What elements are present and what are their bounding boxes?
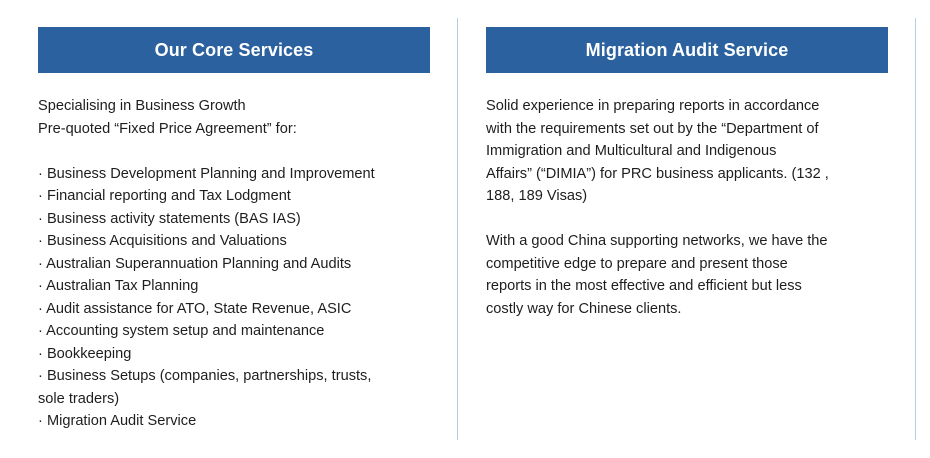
core-services-list: · Business Development Planning and Impr… [38,163,430,433]
intro-line: Specialising in Business Growth [38,95,430,118]
list-item: · Business activity statements (BAS IAS) [38,208,430,231]
left-intro-block: Specialising in Business Growth Pre-quot… [38,95,430,140]
intro-line: Pre-quoted “Fixed Price Agreement” for: [38,118,430,141]
bullet-icon: · [38,413,43,429]
list-item: · Australian Superannuation Planning and… [38,253,430,276]
bullet-icon: · [38,166,43,182]
paragraph-line: Affairs” (“DIMIA”) for PRC business appl… [486,163,888,186]
paragraph: Solid experience in preparing reports in… [486,95,888,208]
list-item: · Accounting system setup and maintenanc… [38,320,430,343]
list-item: · Australian Tax Planning [38,275,430,298]
left-column: Our Core Services Specialising in Busine… [38,27,430,433]
bullet-icon: · [38,278,43,294]
paragraph-line: with the requirements set out by the “De… [486,118,888,141]
list-item: · Business Acquisitions and Valuations [38,230,430,253]
paragraph-line: reports in the most effective and effici… [486,275,888,298]
paragraph-line: competitive edge to prepare and present … [486,253,888,276]
paragraph-line: With a good China supporting networks, w… [486,230,888,253]
paragraph-line: 188, 189 Visas) [486,185,888,208]
paragraph: With a good China supporting networks, w… [486,230,888,320]
list-item-label: Accounting system setup and maintenance [46,323,324,339]
list-item-label: Audit assistance for ATO, State Revenue,… [46,301,351,317]
list-item-label: Business activity statements (BAS IAS) [47,211,301,227]
paragraph-line: costly way for Chinese clients. [486,298,888,321]
list-item: · Business Setups (companies, partnershi… [38,365,430,388]
list-item-label: Bookkeeping [47,346,131,362]
right-edge-line [915,18,916,440]
left-column-body: Specialising in Business Growth Pre-quot… [38,95,430,433]
bullet-icon: · [38,188,43,204]
bullet-icon: · [38,256,43,272]
column-divider-line [457,18,458,440]
left-column-header: Our Core Services [38,27,430,73]
slide-canvas: Our Core Services Specialising in Busine… [0,0,930,458]
list-item: · Financial reporting and Tax Lodgment [38,185,430,208]
list-item: · Business Development Planning and Impr… [38,163,430,186]
bullet-icon: · [38,323,43,339]
right-column-body: Solid experience in preparing reports in… [486,95,888,320]
list-item: · Audit assistance for ATO, State Revenu… [38,298,430,321]
list-item-label: Australian Superannuation Planning and A… [46,256,351,272]
paragraph-line: Solid experience in preparing reports in… [486,95,888,118]
right-column: Migration Audit Service Solid experience… [486,27,888,320]
list-item: · Migration Audit Service [38,410,430,433]
right-column-header: Migration Audit Service [486,27,888,73]
list-item-continuation: sole traders) [38,388,430,411]
list-item: · Bookkeeping [38,343,430,366]
list-item-label: Migration Audit Service [47,413,196,429]
list-item-label: Business Setups (companies, partnerships… [47,368,371,384]
bullet-icon: · [38,301,43,317]
bullet-icon: · [38,368,43,384]
list-item-label: Business Development Planning and Improv… [47,166,375,182]
bullet-icon: · [38,346,43,362]
list-item-label: Business Acquisitions and Valuations [47,233,287,249]
bullet-icon: · [38,211,43,227]
list-item-label: Australian Tax Planning [46,278,198,294]
paragraph-gap [38,140,430,163]
bullet-icon: · [38,233,43,249]
list-item-label: Financial reporting and Tax Lodgment [47,188,291,204]
paragraph-line: Immigration and Multicultural and Indige… [486,140,888,163]
